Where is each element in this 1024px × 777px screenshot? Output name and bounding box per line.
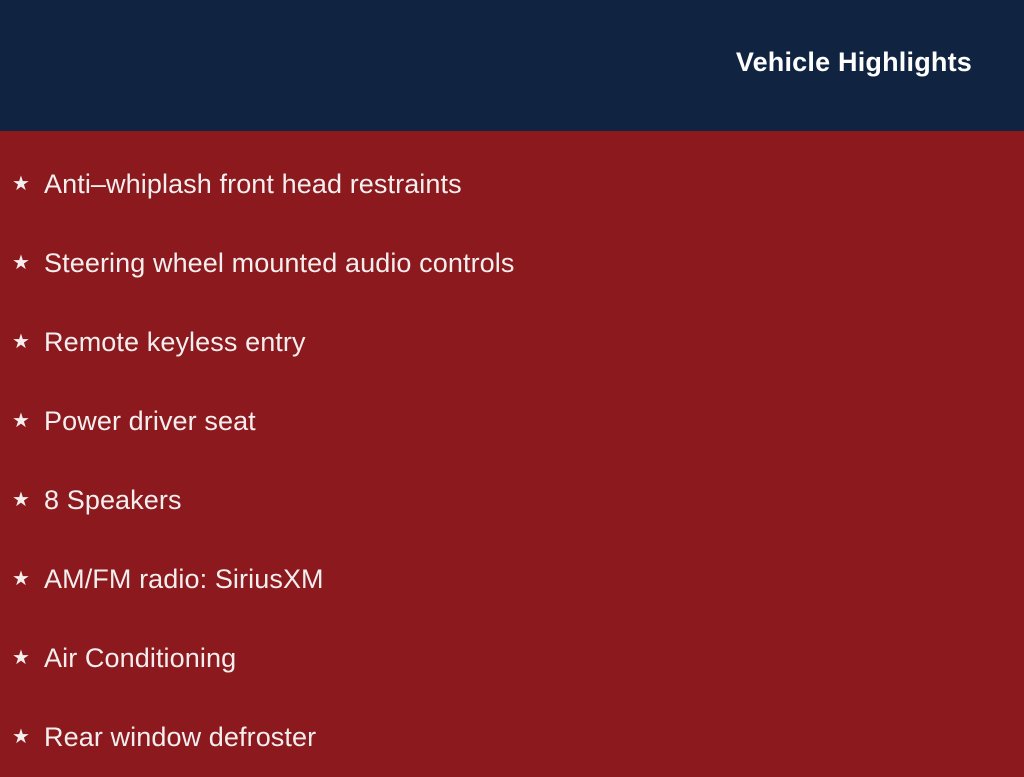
feature-label: Remote keyless entry [44, 326, 306, 358]
vehicle-highlights-slide: Vehicle Highlights ★ Anti–whiplash front… [0, 0, 1024, 768]
star-icon: ★ [12, 648, 44, 668]
feature-label: Anti–whiplash front head restraints [44, 168, 462, 200]
slide-body: ★ Anti–whiplash front head restraints ★ … [0, 131, 1024, 768]
page-title: Vehicle Highlights [736, 48, 972, 78]
vehicle-feature-list: ★ Anti–whiplash front head restraints ★ … [0, 145, 1024, 777]
star-icon: ★ [12, 332, 44, 352]
list-item: ★ Anti–whiplash front head restraints [0, 145, 1024, 224]
star-icon: ★ [12, 174, 44, 194]
feature-label: Steering wheel mounted audio controls [44, 247, 515, 279]
list-item: ★ Rear window defroster [0, 698, 1024, 777]
star-icon: ★ [12, 411, 44, 431]
list-item: ★ Steering wheel mounted audio controls [0, 224, 1024, 303]
list-item: ★ Air Conditioning [0, 619, 1024, 698]
feature-label: 8 Speakers [44, 484, 182, 516]
list-item: ★ Remote keyless entry [0, 303, 1024, 382]
list-item: ★ 8 Speakers [0, 461, 1024, 540]
list-item: ★ AM/FM radio: SiriusXM [0, 540, 1024, 619]
star-icon: ★ [12, 727, 44, 747]
feature-label: AM/FM radio: SiriusXM [44, 563, 324, 595]
star-icon: ★ [12, 253, 44, 273]
star-icon: ★ [12, 569, 44, 589]
feature-label: Air Conditioning [44, 642, 236, 674]
slide-header-band: Vehicle Highlights [0, 0, 1024, 131]
feature-label: Power driver seat [44, 405, 256, 437]
list-item: ★ Power driver seat [0, 382, 1024, 461]
star-icon: ★ [12, 490, 44, 510]
feature-label: Rear window defroster [44, 721, 316, 753]
